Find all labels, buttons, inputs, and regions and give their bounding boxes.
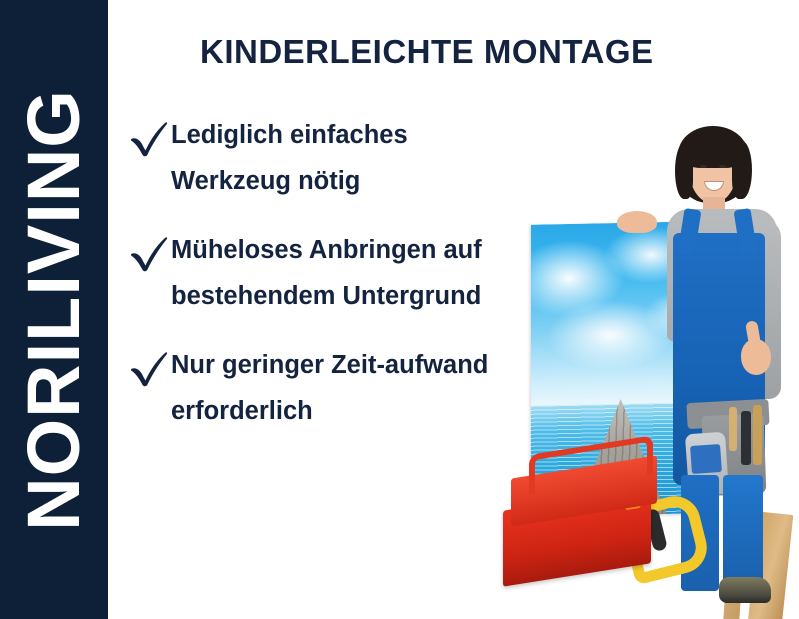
list-item: Lediglich einfaches Werkzeug nötig xyxy=(127,112,497,205)
list-item-label: Müheloses Anbringen auf bestehendem Unte… xyxy=(171,227,497,320)
checkmark-icon xyxy=(127,344,171,390)
brand-name: NORILIVING xyxy=(17,89,91,531)
list-item: Nur geringer Zeit-aufwand erforderlich xyxy=(127,342,497,435)
page-title: KINDERLEICHTE MONTAGE xyxy=(200,33,654,71)
belt-tool-a xyxy=(729,407,737,451)
eye-left xyxy=(700,165,707,168)
list-item: Müheloses Anbringen auf bestehendem Unte… xyxy=(127,227,497,320)
leg-right xyxy=(723,475,763,585)
hair-left xyxy=(675,143,693,199)
list-item-label: Nur geringer Zeit-aufwand erforderlich xyxy=(171,342,497,435)
brand-sidebar: NORILIVING xyxy=(0,0,108,619)
promo-banner: NORILIVING KINDERLEICHTE MONTAGE Ledigli… xyxy=(0,0,799,619)
hair-right xyxy=(732,141,752,199)
belt-tool-b xyxy=(741,411,751,465)
checkmark-icon xyxy=(127,229,171,275)
feature-list: Lediglich einfaches Werkzeug nötig Mühel… xyxy=(127,112,497,456)
checkmark-icon xyxy=(127,114,171,160)
work-shoe xyxy=(719,577,771,603)
hand-right xyxy=(741,339,771,375)
hand-left xyxy=(617,211,657,233)
product-photo xyxy=(495,115,799,619)
list-item-label: Lediglich einfaches Werkzeug nötig xyxy=(171,112,497,205)
glove-stripe xyxy=(690,444,722,474)
belt-tool-c xyxy=(753,405,762,465)
eye-right xyxy=(719,165,726,168)
